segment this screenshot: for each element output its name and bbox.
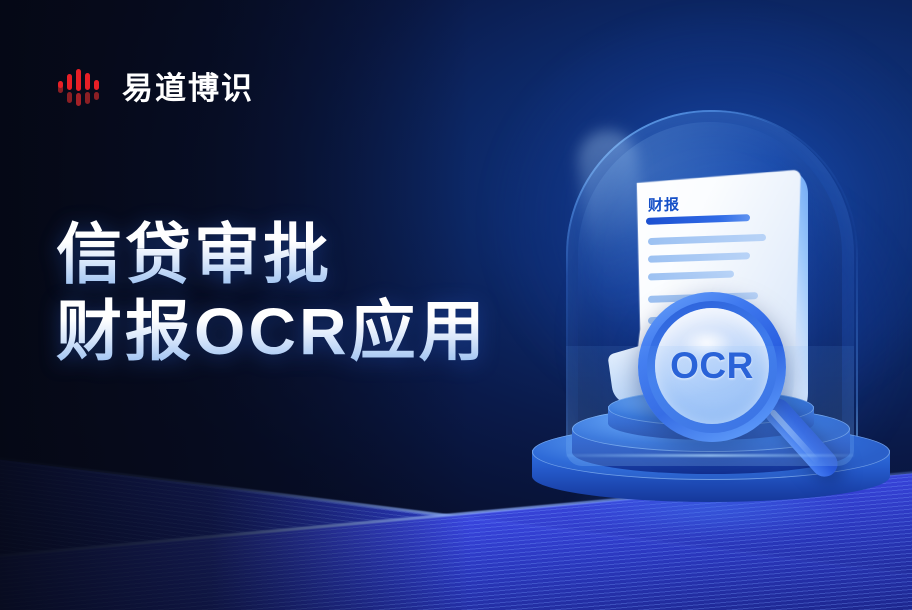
brand-logo: 易道博识 — [56, 62, 254, 114]
glass-dome-document-ocr-illustration: 财报 — [520, 96, 912, 516]
ocr-label: OCR — [670, 345, 754, 387]
soundwave-dots-logo-icon — [56, 62, 106, 114]
brand-name: 易道博识 — [122, 73, 254, 104]
document-title: 财报 — [648, 193, 680, 215]
magnifier-lens: OCR — [655, 308, 769, 424]
magnifier-icon: OCR — [638, 292, 786, 442]
headline-line-2: 财报OCR应用 — [56, 293, 488, 370]
page-title: 信贷审批 财报OCR应用 — [56, 216, 488, 369]
banner-canvas: 易道博识 信贷审批 财报OCR应用 财报 — [0, 0, 912, 610]
glass-dome-base-line — [566, 454, 854, 457]
headline-line-1: 信贷审批 — [56, 216, 488, 293]
